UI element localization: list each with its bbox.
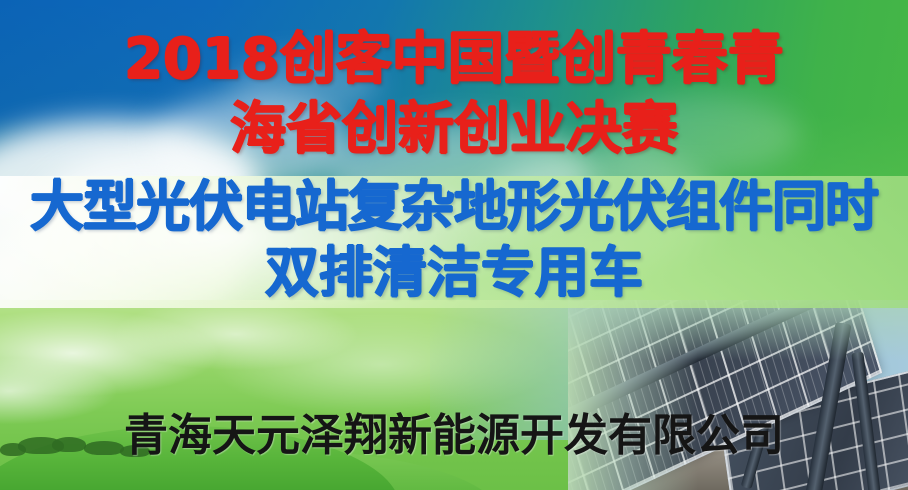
text-layer: 2018创客中国暨创青春青 海省创新创业决赛 大型光伏电站复杂地形光伏组件同时 … (0, 0, 908, 490)
headline-line-2: 海省创新创业决赛 (0, 100, 908, 160)
headline-line-1: 2018创客中国暨创青春青 (0, 30, 908, 90)
subtitle-line-2: 双排清洁专用车 (0, 244, 908, 302)
promo-banner: 2018创客中国暨创青春青 海省创新创业决赛 大型光伏电站复杂地形光伏组件同时 … (0, 0, 908, 490)
company-name: 青海天元泽翔新能源开发有限公司 (0, 412, 908, 460)
subtitle-line-1: 大型光伏电站复杂地形光伏组件同时 (0, 178, 908, 236)
